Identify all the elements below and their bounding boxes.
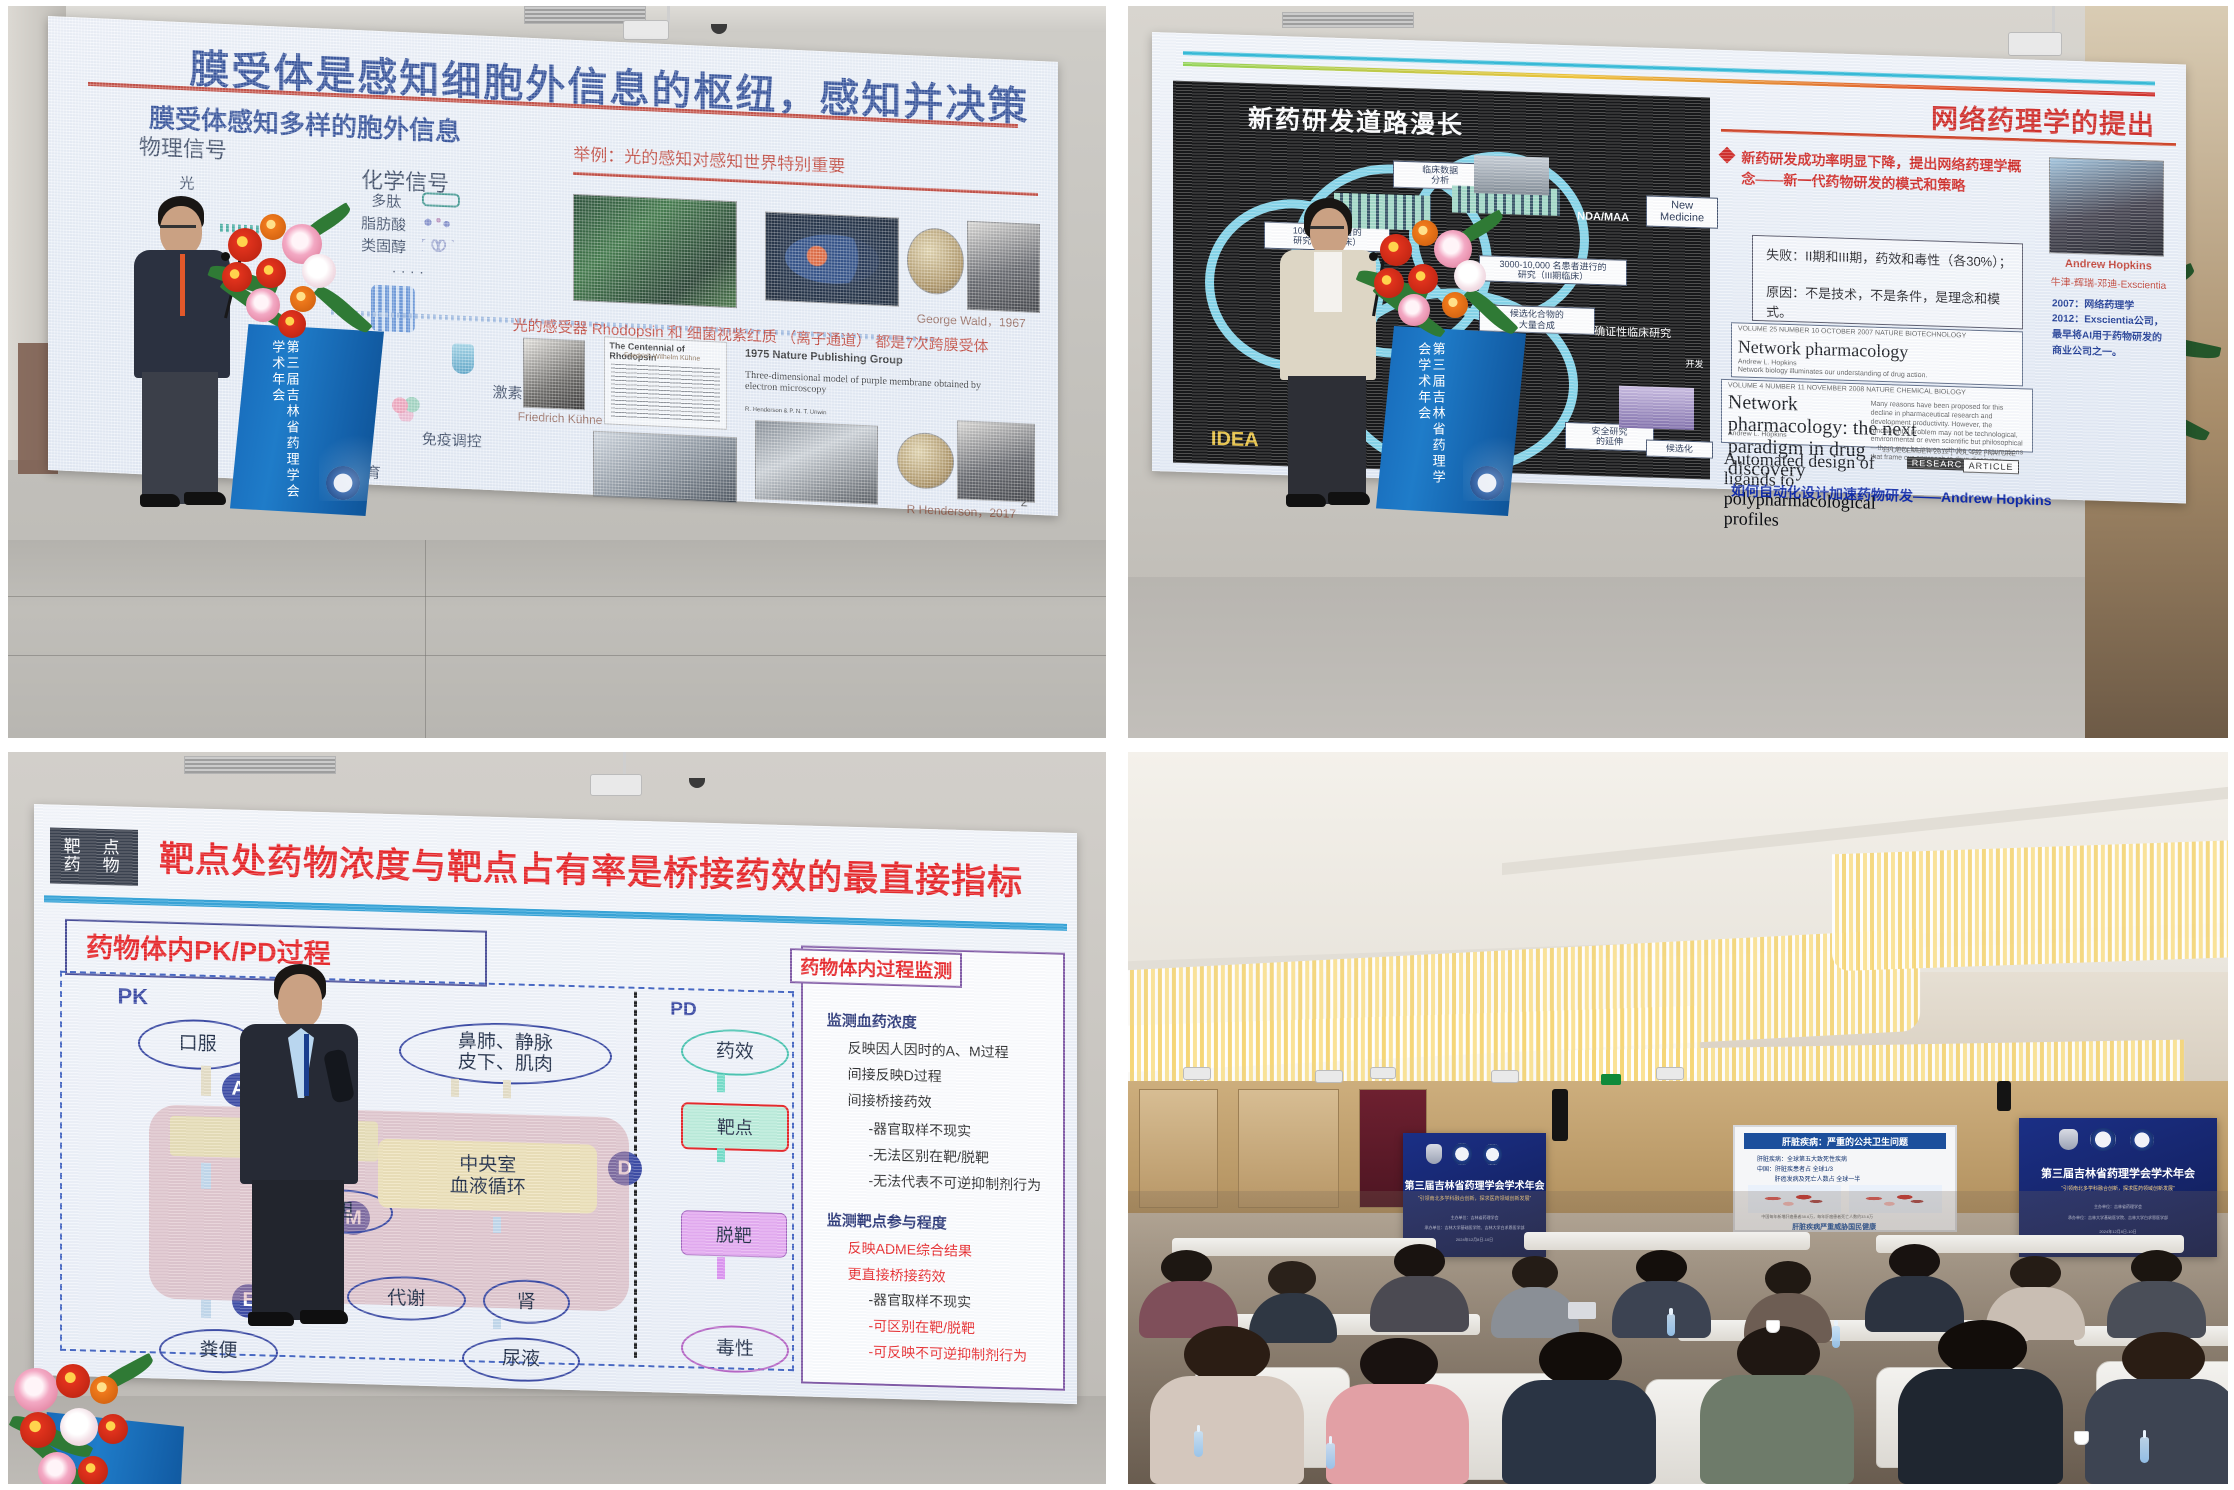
photo-nobel-medal-henderson: [897, 431, 955, 490]
audience-member-foreground: [1326, 1338, 1469, 1484]
panel-conference-hall-audience: 第三届吉林省药理学会学术年会 “引领南北多学科融合创新，探求医药领域创新发展” …: [1128, 752, 2228, 1484]
wall-panel-1: [1139, 1089, 1218, 1208]
journal-1-sub: Network biology illuminates our understa…: [1738, 367, 1928, 380]
photo-george-wald: [967, 221, 1040, 313]
tea-cup: [2074, 1431, 2089, 1445]
ceiling-vent: [1282, 12, 1414, 28]
water-bottle: [1832, 1326, 1840, 1348]
emblem-icon-1: [1426, 1144, 1442, 1164]
screen-slide-title: 肝脏疾病：严重的公共卫生问题: [1744, 1133, 1946, 1148]
monitor-s2-line-2: 更直接桥接药效: [848, 1263, 946, 1286]
chip-char-1: 靶: [64, 837, 85, 857]
monitor-s1-line-2: 间接反映D过程: [848, 1064, 942, 1087]
monitor-s2-line-1: 反映ADME综合结果: [848, 1238, 972, 1261]
phys-item-light: 光: [179, 172, 194, 194]
panel-network-pharmacology-lecture: 网络药理学的提出 新药研发道路漫长 临床数据 分析 NDA/MAA New Me…: [1128, 6, 2228, 738]
tag-confirmatory-study: 确证性临床研究: [1571, 323, 1695, 344]
photo-nobel-medal-wald: [907, 227, 965, 295]
photo-eye-artwork: [765, 212, 898, 306]
caption-george-wald: George Wald，1967: [917, 310, 1026, 332]
audience-member: [1491, 1256, 1579, 1338]
photo-membrane-structure: [593, 431, 736, 503]
monitor-section2-title: 监测靶点参与程度: [827, 1209, 947, 1233]
slide-page-number: 2: [1021, 494, 1028, 509]
hopkins-name-en: Andrew Hopkins: [2041, 257, 2175, 273]
podium-emblem-icon: [326, 466, 360, 500]
audience-member: [1612, 1250, 1711, 1338]
laptop: [1568, 1302, 1596, 1319]
tag-nda-maa: NDA/MAA: [1560, 208, 1647, 227]
failure-reason-box: 失败：II期和III期，药效和毒性（各30%）； 原因：不是技术，不是条件，是理…: [1752, 235, 2023, 329]
podium-text: 第三届吉林省药理学会学术年会: [270, 340, 299, 500]
panel-membrane-receptor-lecture: 膜受体是感知细胞外信息的枢纽，感知并决策 膜受体感知多样的胞外信息 物理信号 化…: [8, 6, 1106, 738]
nature-authors: R. Henderson & P. N. T. Unwin: [745, 406, 826, 416]
line-array-speaker: [1552, 1089, 1568, 1141]
podium-emblem-icon: [1470, 466, 1504, 500]
audience-member: [1139, 1250, 1238, 1338]
led-wall-slide: 靶点 药物 靶点处药物浓度与靶点占有率是桥接药效的最直接指标 药物体内PK/PD…: [34, 804, 1077, 1404]
line-array-speaker-right: [1997, 1081, 2011, 1111]
hopkins-block: Andrew Hopkins 牛津-辉瑞-邓迪-Exscientia 2007：…: [2041, 157, 2175, 425]
flower-bouquet: [8, 1348, 178, 1484]
panel-pkpd-lecture: 靶点 药物 靶点处药物浓度与靶点占有率是桥接药效的最直接指标 药物体内PK/PD…: [8, 752, 1106, 1484]
building-icon: [1474, 155, 1549, 196]
hopkins-name-cn: 牛津-辉瑞-邓迪-Exscientia: [2041, 272, 2175, 291]
diamond-bullet-icon: [1718, 146, 1735, 163]
slide-title: 靶点处药物浓度与靶点占有率是桥接药效的最直接指标: [159, 830, 1023, 905]
monitor-s1-line-5: -无法区别在靶/脱靶: [868, 1144, 989, 1167]
photo-collage: 膜受体是感知细胞外信息的枢纽，感知并决策 膜受体感知多样的胞外信息 物理信号 化…: [0, 0, 2234, 1490]
audience-member: [1865, 1244, 1964, 1332]
corner-chip: 靶点 药物: [50, 827, 138, 885]
kuhne-article-clip: The Centennial of Rhodopsin Friedrich Wi…: [604, 336, 727, 430]
chip-char-3: 药: [64, 854, 85, 874]
monitor-s2-line-4: -可区别在靶/脱靶: [868, 1315, 975, 1338]
audience-member-foreground: [1898, 1320, 2063, 1484]
photo-andrew-hopkins: [2049, 157, 2164, 257]
box-item-failure: 失败：II期和III期，药效和毒性（各30%）；: [1766, 245, 2013, 272]
hopkins-note-4: 商业公司之一。: [2052, 341, 2122, 358]
exit-sign: [1601, 1074, 1621, 1085]
projector: [623, 20, 669, 40]
water-bottle: [2140, 1437, 2149, 1463]
floor: [8, 540, 1106, 738]
banner-left-title: 第三届吉林省药理学会学术年会: [1405, 1177, 1545, 1192]
podium-text: 第三届吉林省药理学会学术年会: [1416, 342, 1445, 500]
factory-icon: [1619, 385, 1694, 429]
chem-ellipsis: · · · ·: [391, 263, 423, 281]
bullet-main-text: 新药研发成功率明显下降，提出网络药理学概念——新一代药物研发的模式和策略: [1741, 147, 2031, 198]
chip-char-4: 物: [103, 856, 124, 876]
audience-member-foreground: [1502, 1332, 1656, 1484]
flower-bouquet: [206, 202, 366, 362]
badge-article: ARTICLE: [1963, 458, 2020, 474]
tag-new-medicine: New Medicine: [1646, 195, 1719, 229]
audience-member: [1370, 1244, 1469, 1332]
emblem-icon-2: [1452, 1143, 1472, 1165]
water-bottle: [1326, 1443, 1335, 1469]
chem-item-peptide: 多肽: [371, 190, 401, 212]
water-bottle: [1194, 1431, 1203, 1457]
hopkins-note-1: 2007：网络药理学: [2052, 294, 2134, 312]
box-item-reason: 原因：不是技术，不是条件，是理念和模式。: [1766, 283, 2013, 330]
emblem-icon-3: [2130, 1129, 2154, 1151]
chip-char-2: 点: [103, 838, 124, 858]
monitor-section1-title: 监测血药浓度: [827, 1009, 917, 1033]
monitoring-box-title: 药物体内过程监测: [790, 948, 962, 988]
photo-purple-membrane: [755, 420, 878, 505]
wall-panel-2: [1238, 1089, 1339, 1208]
audience-member-foreground: [1150, 1326, 1304, 1484]
receptor-diagram-icon: [371, 285, 415, 333]
floor: [1128, 577, 2228, 738]
slide-title-right: 网络药理学的提出: [1931, 96, 2155, 142]
chandelier-right: [1832, 840, 2228, 972]
screen-line-2: 中国：肝脏疾患者占 全球1/3: [1757, 1164, 1833, 1173]
journal-clip-1: VOLUME 25 NUMBER 10 OCTOBER 2007 NATURE …: [1731, 322, 2023, 386]
emblem-icon-3: [1483, 1144, 1502, 1165]
tea-cup: [1766, 1320, 1780, 1333]
chem-item-steroid: 类固醇: [361, 234, 406, 257]
projector: [590, 774, 642, 796]
ceiling-vent: [184, 756, 336, 774]
ceiling-projector-2: [1315, 1070, 1343, 1083]
audience-member: [2107, 1250, 2206, 1338]
node-offtarget: 脱靶: [681, 1210, 787, 1258]
flower-bouquet: [1356, 206, 1516, 362]
screen-line-1: 肝脏疾病：全球第五大致死性疾病: [1757, 1154, 1847, 1163]
photo-friedrich-kuhne: [523, 337, 586, 410]
audience-member-foreground: [1700, 1326, 1854, 1484]
ceiling-projector-1: [1183, 1067, 1211, 1080]
nature-title: Three-dimensional model of purple membra…: [745, 370, 987, 403]
audience-area: [1128, 1191, 2228, 1484]
screen-line-3: 肝癌发病及死亡人数占 全球一半: [1775, 1174, 1861, 1183]
photo-r-henderson: [957, 420, 1035, 503]
monitor-s1-line-4: -器官取样不现实: [868, 1118, 971, 1141]
journal-1-author: Andrew L. Hopkins: [1738, 358, 1797, 367]
roadmap-title: 新药研发道路漫长: [1248, 99, 1464, 142]
example-heading: 举例：光的感知对感知世界特别重要: [573, 140, 845, 177]
chem-item-fatty-acid: 脂肪酸: [361, 212, 406, 235]
banquet-table: [1524, 1232, 1810, 1250]
tag-development: 开发: [1673, 356, 1717, 372]
emblem-icon-1: [2059, 1129, 2079, 1150]
ceiling-projector-5: [1656, 1067, 1684, 1080]
tag-idea: IDEA: [1189, 425, 1281, 455]
photo-jungle-light: [573, 194, 737, 308]
node-central-compartment: 中央室 血液循环: [378, 1139, 597, 1214]
column-physical-signals: 物理信号: [139, 129, 227, 165]
monitor-s2-line-3: -器官取样不现实: [868, 1290, 971, 1313]
immune-cells-icon: [391, 395, 421, 422]
node-target: 靶点: [681, 1102, 789, 1152]
hormone-icon: [452, 343, 474, 374]
emblem-icon-2: [2090, 1128, 2116, 1152]
ceiling-projector-4: [1491, 1070, 1519, 1083]
projector: [2008, 32, 2062, 56]
ceiling-projector-3: [1370, 1067, 1396, 1079]
audience-member-foreground: [2085, 1332, 2228, 1484]
tag-candidate: 候选化: [1646, 440, 1713, 458]
label-immune-regulation: 免疫调控: [422, 428, 482, 452]
caption-friedrich-kuhne: Friedrich Kühne: [518, 409, 603, 427]
banner-right-title: 第三届吉林省药理学会学术年会: [2041, 1165, 2195, 1181]
water-bottle: [1667, 1314, 1675, 1336]
monitor-s1-line-3: 间接桥接药效: [848, 1089, 932, 1111]
